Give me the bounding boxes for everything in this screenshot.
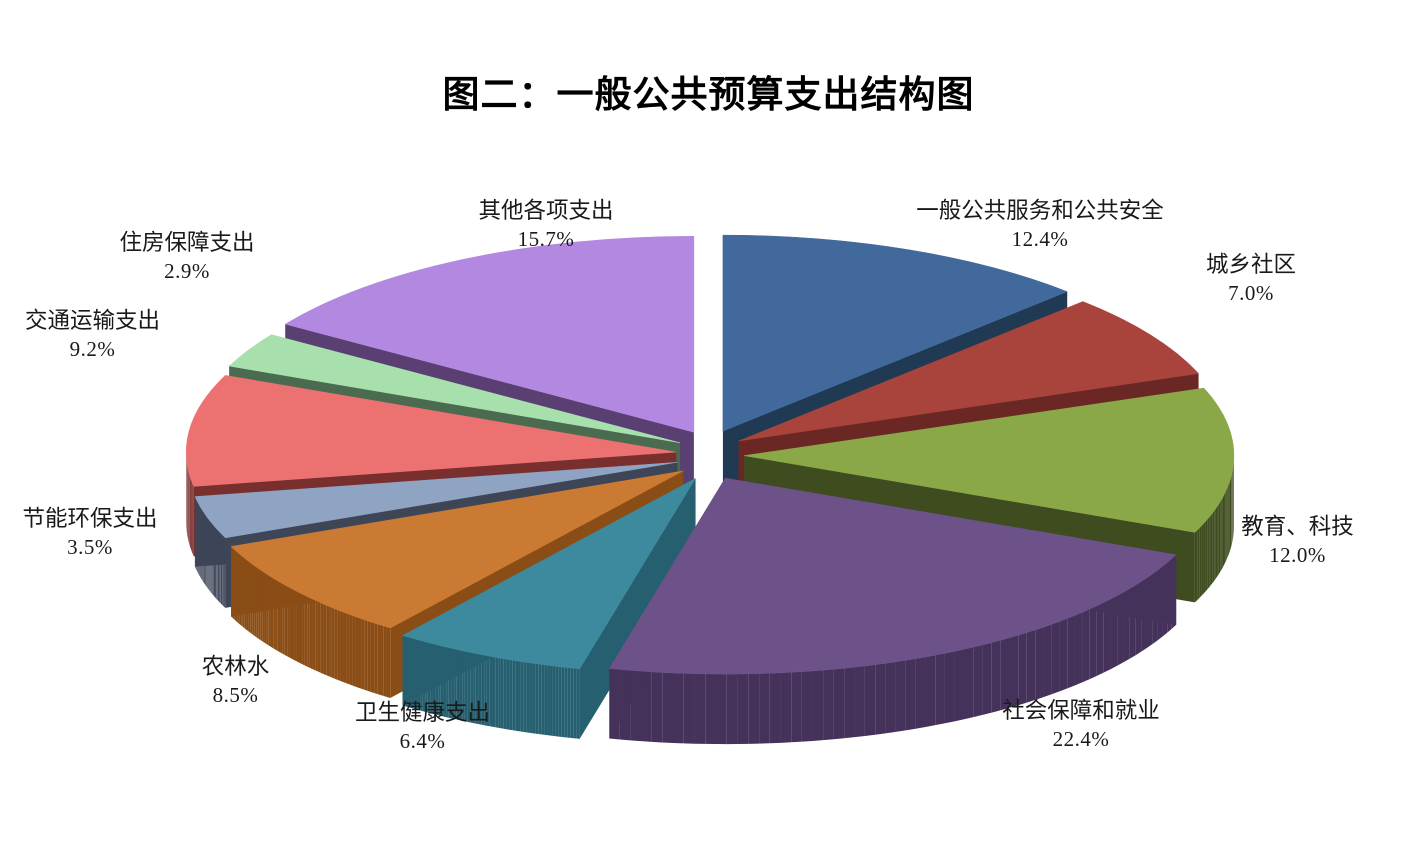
pie-slice-side [727,674,738,744]
slice-label-general-public-service: 一般公共服务和公共安全 12.4% [896,196,1184,253]
pie-slice-side [222,535,223,606]
pie-slice-side [1027,630,1035,703]
pie-slice-side [371,622,374,693]
slice-label-social-security-employment: 社会保障和就业 22.4% [968,696,1194,753]
pie-slice-side [716,674,727,744]
pie-slice-side [834,668,844,739]
pie-slice-side [916,657,926,729]
pie-slice-side [380,625,383,696]
pie-slice-side [547,665,550,735]
pie-slice-side [673,673,684,743]
pie-slice-side [271,577,273,648]
pie-slice-side [256,567,258,638]
pie-slice-side [290,588,292,659]
pie-slice-side [220,533,221,604]
pie-slice-side [292,589,294,660]
pie-slice-side [538,664,541,734]
pie-slice-side [190,478,191,550]
pie-slice-side [260,570,262,641]
pie-slice-side [694,674,705,744]
pie-slice-side [264,573,266,644]
pie-slice-side [935,653,945,725]
pie-slice-side [377,624,380,695]
pie-slice-side [278,581,280,652]
pie-slice-side [1043,624,1051,697]
pie-slice-side [823,669,834,740]
pie-slice-side [216,528,217,599]
pie-slice-side [323,604,326,675]
pie-slice-side [875,663,885,734]
pie-slice-side [343,612,346,683]
pie-slice-side [1052,621,1060,694]
pie-slice-side [609,669,619,740]
slice-label-agriculture-forestry-water: 农林水 8.5% [148,652,323,709]
slice-label-health: 卫生健康支出 6.4% [325,698,520,755]
pie-slice-side [219,532,220,603]
pie-slice-side [212,523,213,594]
pie-slice-side [1018,633,1027,706]
pie-slice-side [1075,612,1082,685]
pie-slice-side [630,670,641,741]
pie-slice-side [374,623,377,694]
pie-slice-side [368,621,371,692]
pie-slice-side [217,529,218,600]
pie-slice-side [262,571,264,642]
pie-slice-side [770,673,781,743]
pie-slice-side [273,578,275,649]
pie-slice-tops [186,235,1234,674]
pie-slice-side [562,667,565,737]
pie-slice-side [335,609,338,680]
pie-slice-side [532,663,535,733]
pie-slice-side [530,663,533,733]
pie-slice-side [759,673,770,743]
pie-slice-side [223,536,224,607]
pie-slice-side [1035,627,1043,700]
pie-slice-side [211,523,212,594]
pie-slice-side [210,521,211,592]
pie-slice-side [1090,606,1097,679]
pie-slice-side [287,586,289,657]
pie-slice-side [641,671,652,742]
pie-slice-side [362,619,365,690]
pie-slice-side [559,667,562,737]
pie-slice-side [885,662,895,733]
pie-slice-side [211,522,212,593]
pie-slice-side [553,666,556,736]
pie-slice-side [210,521,211,592]
pie-slice-side [535,664,538,734]
pie-slice-side [341,611,344,682]
pie-slice-side [896,660,906,732]
pie-slice-side [267,574,269,645]
pie-slice-side [568,668,571,738]
pie-slice-side [652,672,663,743]
pie-slice-side [945,651,955,723]
pie-slice-side [212,524,213,595]
pie-slice-side [527,662,530,732]
pie-slice-side [565,667,568,737]
slice-label-housing-security: 住房保障支出 2.9% [92,228,282,285]
slice-label-transportation: 交通运输支出 9.2% [0,306,185,363]
pie-slice-side [865,665,875,736]
pie-slice-side [684,673,695,743]
pie-slice-side [332,608,335,679]
pie-slice-side [285,585,287,656]
pie-slice-side [541,664,544,734]
pie-slice-side [326,605,329,676]
pie-slice-side [925,655,935,727]
pie-slice-side [192,481,193,553]
pie-slice-side [218,531,219,602]
pie-slice-side [214,526,215,597]
pie-slice-side [855,666,865,737]
pie-chart-canvas [0,0,1417,854]
pie-slice-side [349,614,352,685]
pie-slice-side [217,530,218,601]
pie-slice-side [955,649,964,721]
pie-slice-side [1082,609,1089,682]
pie-slice-side [215,527,216,598]
pie-slice-side [1067,615,1075,688]
pie-slice-side [329,606,332,677]
pie-slice-side [813,670,824,741]
slice-label-energy-environment: 节能环保支出 3.5% [0,504,180,561]
pie-slice-side [355,617,358,688]
pie-slice-side [748,674,759,744]
pie-slice-side [524,662,527,732]
pie-slice-side [282,584,284,655]
slice-label-education-technology: 教育、科技 12.0% [1178,512,1417,569]
pie-slice-side [359,618,362,689]
pie-slice-side [521,662,524,732]
pie-slice-side [571,668,574,738]
pie-slice-side [275,580,277,651]
pie-slice-side [218,530,219,601]
pie-slice-side [258,568,260,639]
pie-slice-side [269,575,271,646]
pie-slice-side [213,525,214,596]
pie-slice-side [1060,618,1068,691]
pie-slice-side [191,479,192,551]
slice-label-urban-rural-community: 城乡社区 7.0% [1116,250,1386,307]
pie-slice-side [781,672,792,743]
pie-slice-side [213,525,214,596]
pie-slice-side [620,670,631,741]
pie-slice-side [221,534,222,605]
pie-slice-side [738,674,749,744]
pie-slice-side [387,627,390,698]
pie-slice-side [844,667,854,738]
pie-slice-side [662,672,673,743]
pie-slice-side [224,537,225,608]
pie-slice-side [906,659,916,731]
pie-slice-side [192,483,193,555]
pie-slice-side [190,476,191,548]
pie-slice-side [214,527,215,598]
pie-slice-side [1097,603,1104,676]
pie-slice-side [346,613,349,684]
pie-slice-side [216,528,217,599]
pie-slice-side [338,610,341,681]
pie-slice-side [220,532,221,603]
pie-slice-side [221,533,222,604]
pie-slice-side [384,626,387,697]
pie-slice-side [352,616,355,687]
slice-label-other-expenditures: 其他各项支出 15.7% [448,196,644,253]
pie-slice-side [556,666,559,736]
pie-slice-side [225,537,226,608]
pie-slice-side [193,485,194,557]
pie-slice-side [791,672,802,743]
pie-slice-side [574,668,577,738]
pie-chart-figure: 图二：一般公共预算支出结构图 一般公共服务和公共安全 12.4% 城乡社区 7.… [0,0,1417,854]
pie-slice-side [705,674,716,744]
pie-slice-side [189,474,190,546]
pie-slice-side [802,671,813,742]
pie-slice-side [365,620,368,691]
pie-slice-side [280,582,282,653]
pie-slice-side [223,535,224,606]
pie-slice-side [550,666,553,736]
pie-slice-side [294,590,297,661]
pie-slice-side [544,665,547,735]
pie-slice-side [577,669,580,739]
